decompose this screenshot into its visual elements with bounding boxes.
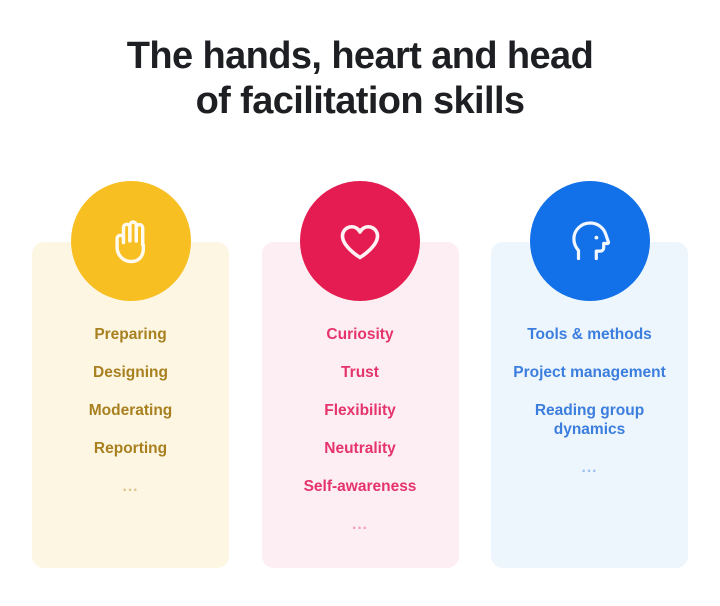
- column-hands: Preparing Designing Moderating Reporting…: [32, 181, 229, 571]
- hand-icon: [102, 212, 160, 270]
- head-profile-icon: [561, 212, 619, 270]
- list-item: Tools & methods: [499, 325, 680, 344]
- ellipsis-indicator: ...: [40, 477, 221, 496]
- column-head: Tools & methods Project management Readi…: [491, 181, 688, 571]
- columns-container: Preparing Designing Moderating Reporting…: [32, 181, 688, 571]
- ellipsis-indicator: ...: [499, 458, 680, 477]
- badge-hands: [71, 181, 191, 301]
- list-item: Self-awareness: [270, 477, 451, 496]
- items-hands: Preparing Designing Moderating Reporting…: [40, 325, 221, 496]
- list-item: Neutrality: [270, 439, 451, 458]
- list-item: Trust: [270, 363, 451, 382]
- badge-head: [530, 181, 650, 301]
- list-item: Moderating: [40, 401, 221, 420]
- page-title: The hands, heart and head of facilitatio…: [0, 34, 720, 124]
- list-item: Project management: [499, 363, 680, 382]
- ellipsis-indicator: ...: [270, 515, 451, 534]
- column-heart: Curiosity Trust Flexibility Neutrality S…: [262, 181, 459, 571]
- list-item: Flexibility: [270, 401, 451, 420]
- items-heart: Curiosity Trust Flexibility Neutrality S…: [270, 325, 451, 534]
- list-item: Preparing: [40, 325, 221, 344]
- heart-icon: [331, 212, 389, 270]
- items-head: Tools & methods Project management Readi…: [499, 325, 680, 477]
- list-item: Curiosity: [270, 325, 451, 344]
- list-item: Reporting: [40, 439, 221, 458]
- badge-heart: [300, 181, 420, 301]
- infographic-poster: The hands, heart and head of facilitatio…: [0, 0, 720, 606]
- list-item: Designing: [40, 363, 221, 382]
- list-item: Reading group dynamics: [499, 401, 680, 439]
